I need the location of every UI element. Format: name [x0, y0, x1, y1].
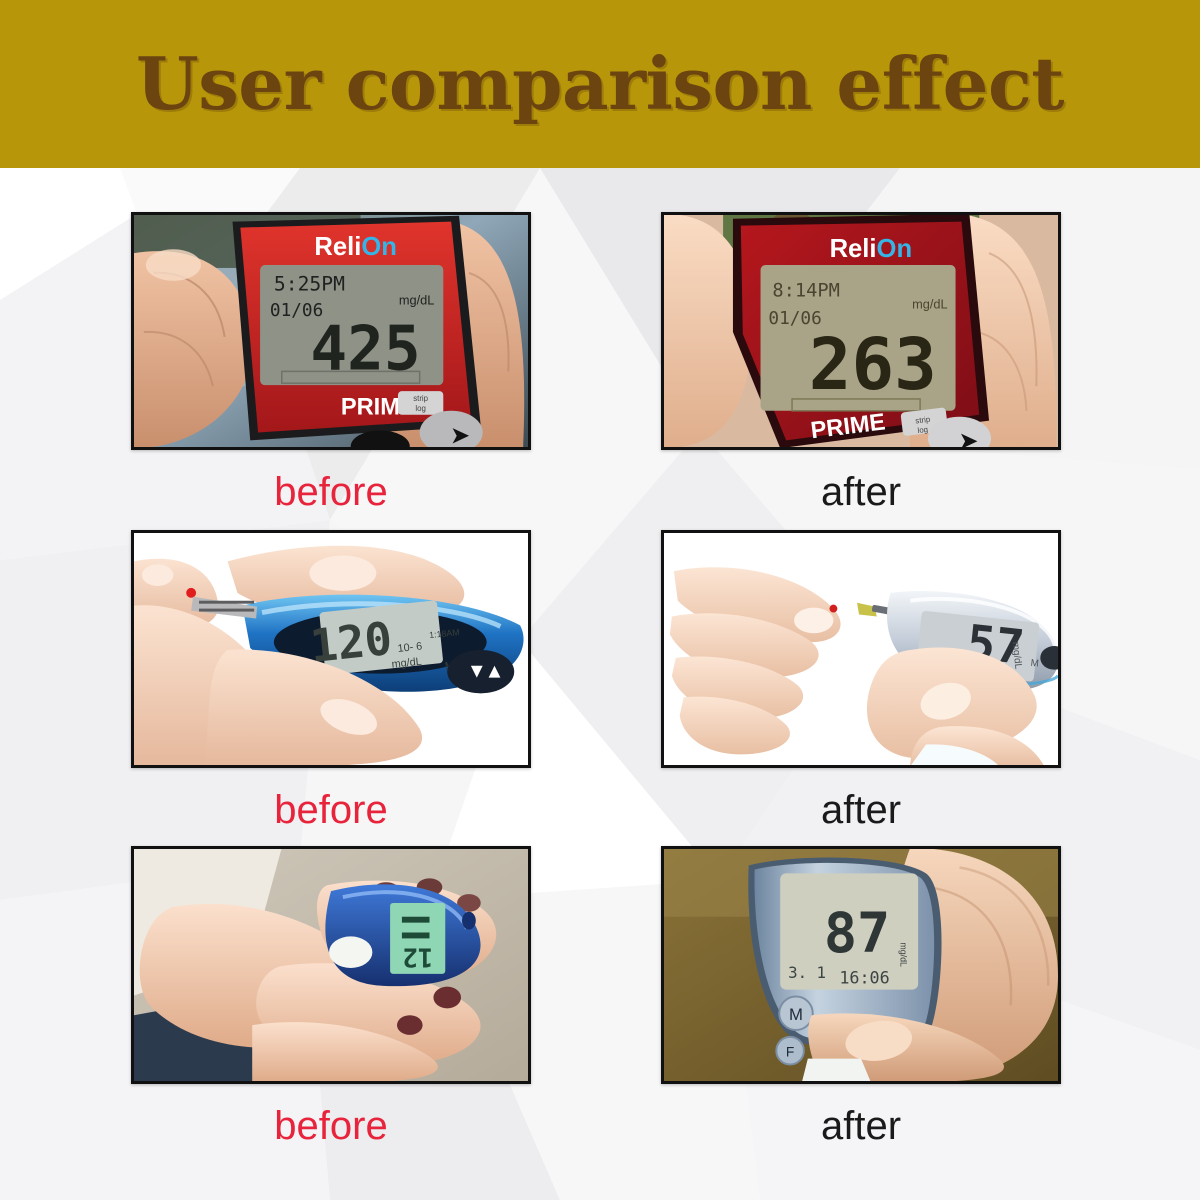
- comparison-cell-before: 120 10- 6 1:18AM mg/dL M before: [131, 530, 531, 830]
- photo-before-relion-425[interactable]: ReliOn 5:25PM 01/06 mg/dL 425 PRIME stri…: [131, 212, 531, 450]
- header-banner: User comparison effect: [0, 0, 1200, 168]
- svg-text:87: 87: [824, 902, 890, 966]
- svg-text:➤: ➤: [960, 428, 979, 447]
- caption-before: before: [131, 1084, 531, 1146]
- svg-text:16:06: 16:06: [839, 968, 889, 988]
- svg-text:➤: ➤: [451, 422, 470, 447]
- photo-after-silver-meter-57[interactable]: 57 mg/dL M: [661, 530, 1061, 768]
- comparison-cell-after: 57 mg/dL M after: [661, 530, 1061, 830]
- comparison-cell-before: 12 before: [131, 846, 531, 1146]
- svg-text:mg/dL: mg/dL: [898, 942, 908, 967]
- comparison-gallery: ReliOn 5:25PM 01/06 mg/dL 425 PRIME stri…: [0, 168, 1200, 1200]
- photo-after-relion-263[interactable]: ReliOn 8:14PM 01/06 mg/dL 263 PRIME stri…: [661, 212, 1061, 450]
- caption-after: after: [661, 1084, 1061, 1146]
- svg-text:5:25PM: 5:25PM: [274, 273, 345, 296]
- photo-before-blue-oval-meter[interactable]: 12: [131, 846, 531, 1084]
- svg-text:log: log: [917, 425, 929, 435]
- svg-text:10- 6: 10- 6: [397, 640, 423, 655]
- svg-text:M: M: [789, 1005, 803, 1024]
- comparison-row: ReliOn 5:25PM 01/06 mg/dL 425 PRIME stri…: [0, 212, 1200, 528]
- caption-after: after: [661, 450, 1061, 512]
- comparison-cell-after: ReliOn 8:14PM 01/06 mg/dL 263 PRIME stri…: [661, 212, 1061, 512]
- svg-text:3. 1: 3. 1: [788, 963, 826, 982]
- comparison-cell-after: 87 mg/dL 3. 1 16:06 M F after: [661, 846, 1061, 1146]
- svg-text:ReliOn: ReliOn: [314, 233, 397, 261]
- svg-text:strip: strip: [413, 394, 428, 403]
- photo-after-blue-meter-87[interactable]: 87 mg/dL 3. 1 16:06 M F: [661, 846, 1061, 1084]
- page-title: User comparison effect: [136, 48, 1064, 120]
- svg-text:log: log: [415, 404, 426, 413]
- comparison-cell-before: ReliOn 5:25PM 01/06 mg/dL 425 PRIME stri…: [131, 212, 531, 512]
- comparison-row: 12 before: [0, 846, 1200, 1162]
- svg-text:263: 263: [809, 323, 937, 406]
- photo-before-blue-meter-120[interactable]: 120 10- 6 1:18AM mg/dL M: [131, 530, 531, 768]
- comparison-row: 120 10- 6 1:18AM mg/dL M before: [0, 530, 1200, 846]
- svg-text:mg/dL: mg/dL: [912, 296, 948, 311]
- svg-text:8:14PM: 8:14PM: [772, 281, 840, 302]
- svg-text:strip: strip: [915, 415, 931, 426]
- caption-after: after: [661, 768, 1061, 830]
- svg-text:mg/dL: mg/dL: [399, 292, 435, 307]
- caption-before: before: [131, 450, 531, 512]
- svg-text:12: 12: [402, 941, 433, 971]
- svg-text:M: M: [1030, 658, 1039, 670]
- svg-text:425: 425: [310, 313, 420, 384]
- svg-text:ReliOn: ReliOn: [830, 235, 913, 263]
- caption-before: before: [131, 768, 531, 830]
- svg-text:F: F: [786, 1045, 794, 1060]
